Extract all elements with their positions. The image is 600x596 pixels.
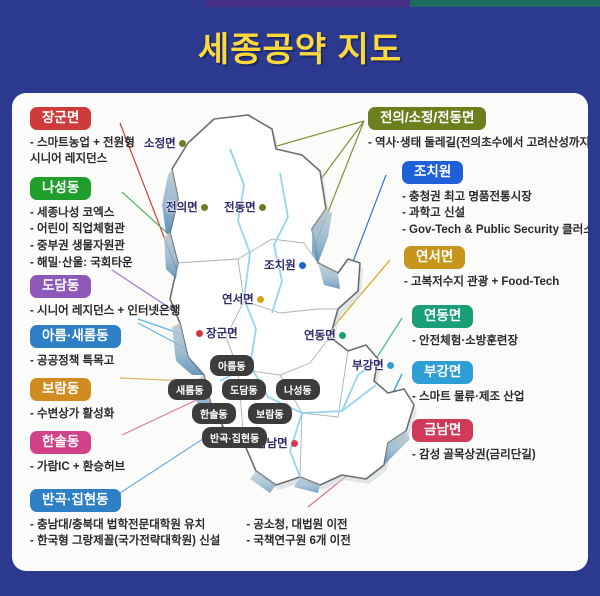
entry-items: - 역사·생태 둘레길(전의초수에서 고려산성까지) — [368, 135, 588, 152]
map-label-bugang-myeon[interactable]: 부강면 — [352, 357, 394, 373]
entry-badge[interactable]: 전의/소정/전동면 — [368, 107, 486, 130]
entry-areum-saerom-dong[interactable]: 아름·새롬동 - 공공정책 특목고 — [30, 325, 121, 369]
entry-item: - 충남대/충북대 법학전문대학원 유치 — [30, 517, 220, 534]
map-dot-icon — [259, 204, 266, 211]
entry-badge[interactable]: 한솔동 — [30, 431, 91, 454]
entry-item: - 고복저수지 관광 + Food-Tech — [404, 274, 559, 291]
map-dot-icon — [291, 440, 298, 447]
map-pill-areum-dong[interactable]: 아름동 — [210, 355, 254, 376]
entry-badge[interactable]: 연동면 — [412, 305, 473, 328]
entry-item: - 공소청, 대법원 이전 — [246, 517, 350, 534]
entry-items: - 감성 골목상권(금리단길) — [412, 447, 536, 464]
map-dot-icon — [179, 140, 186, 147]
entry-items: - 세종나성 코엑스 - 어린이 직업체험관 - 중부권 생물자원관 - 해밀·… — [30, 205, 133, 272]
strip-segment-blue — [0, 0, 205, 7]
entry-items: - 고복저수지 관광 + Food-Tech — [404, 274, 559, 291]
map-label-text: 부강면 — [352, 357, 384, 373]
entry-badge[interactable]: 아름·새롬동 — [30, 325, 121, 348]
map-label-jeondong-myeon[interactable]: 전동면 — [224, 199, 266, 215]
entry-bangok-jiphyeon-dong[interactable]: 반곡·집현동 - 충남대/충북대 법학전문대학원 유치 - 한국형 그랑제꼴(국… — [30, 489, 351, 550]
entry-item: - 충청권 최고 명품전통시장 — [402, 189, 588, 206]
page-title: 세종공약 지도 — [0, 22, 600, 71]
map-label-text: 연서면 — [222, 291, 254, 307]
map-label-text: 전의면 — [166, 199, 198, 215]
entry-item: - Gov-Tech & Public Security 클러스터 — [402, 222, 588, 239]
entry-item: - 세종나성 코엑스 — [30, 205, 133, 222]
map-pill-saerom-dong[interactable]: 새롬동 — [168, 379, 212, 400]
entry-naseong-dong[interactable]: 나성동 - 세종나성 코엑스 - 어린이 직업체험관 - 중부권 생물자원관 -… — [30, 177, 133, 271]
map-svg — [152, 113, 422, 513]
entry-badge[interactable]: 나성동 — [30, 177, 91, 200]
top-color-strip — [0, 0, 600, 7]
entry-items: - 스마트 물류·제조 산업 — [412, 389, 524, 406]
entry-item: - 역사·생태 둘레길(전의초수에서 고려산성까지) — [368, 135, 588, 152]
entry-items: - 스마트농업 + 전원형 시니어 레지던스 — [30, 135, 135, 168]
entry-items: - 충청권 최고 명품전통시장 - 과학고 신설 - Gov-Tech & Pu… — [402, 189, 588, 239]
entry-items: - 충남대/충북대 법학전문대학원 유치 - 한국형 그랑제꼴(국가전략대학원)… — [30, 517, 351, 550]
entry-item: 시니어 레지던스 — [30, 151, 135, 168]
entry-jeonui-sojeong-jeondong-myeon[interactable]: 전의/소정/전동면 - 역사·생태 둘레길(전의초수에서 고려산성까지) — [368, 107, 588, 151]
entry-items: - 수변상가 활성화 — [30, 406, 114, 423]
map-label-yeondong-myeon[interactable]: 연동면 — [304, 327, 346, 343]
entry-item: - 감성 골목상권(금리단길) — [412, 447, 536, 464]
map-pill-naseong-dong[interactable]: 나성동 — [276, 379, 320, 400]
entry-item: - 수변상가 활성화 — [30, 406, 114, 423]
entry-jochiwon[interactable]: 조치원 - 충청권 최고 명품전통시장 - 과학고 신설 - Gov-Tech … — [402, 161, 588, 239]
entry-item: - 가람IC + 환승허브 — [30, 459, 125, 476]
entry-items: - 시니어 레지던스 + 인터넷은행 — [30, 303, 180, 320]
entry-item: - 한국형 그랑제꼴(국가전략대학원) 신설 — [30, 533, 220, 550]
entry-items-column-right: - 공소청, 대법원 이전 - 국책연구원 6개 이전 — [246, 517, 350, 550]
map-label-text: 조치원 — [264, 257, 296, 273]
map-dot-icon — [299, 262, 306, 269]
entry-item: - 해밀·산울: 국회타운 — [30, 255, 133, 272]
entry-items: - 공공정책 특목고 — [30, 353, 121, 370]
entry-badge[interactable]: 반곡·집현동 — [30, 489, 121, 512]
entry-item: - 국책연구원 6개 이전 — [246, 533, 350, 550]
map-label-text: 장군면 — [206, 325, 238, 341]
map-pill-dodam-dong[interactable]: 도담동 — [222, 379, 266, 400]
strip-segment-purple — [205, 0, 410, 7]
map-pill-bangok-jiphyeon-dong[interactable]: 반곡·집현동 — [202, 427, 267, 448]
entry-janggun-myeon[interactable]: 장군면 - 스마트농업 + 전원형 시니어 레지던스 — [30, 107, 135, 168]
map-dot-icon — [196, 330, 203, 337]
map-label-janggun-myeon[interactable]: 장군면 — [196, 325, 238, 341]
entry-item: - 과학고 신설 — [402, 205, 588, 222]
entry-badge[interactable]: 부강면 — [412, 361, 473, 384]
entry-badge[interactable]: 보람동 — [30, 378, 91, 401]
map-label-text: 소정면 — [144, 135, 176, 151]
sejong-map: 소정면 전의면 전동면 조치원 연서면 장군면 — [152, 113, 422, 513]
entry-item: - 어린이 직업체험관 — [30, 221, 133, 238]
map-pill-hansol-dong[interactable]: 한솔동 — [192, 403, 236, 424]
entry-item: - 스마트농업 + 전원형 — [30, 135, 135, 152]
map-dot-icon — [387, 362, 394, 369]
map-dot-icon — [201, 204, 208, 211]
entry-items-column-left: - 충남대/충북대 법학전문대학원 유치 - 한국형 그랑제꼴(국가전략대학원)… — [30, 517, 220, 550]
entry-items: - 안전체험·소방훈련장 — [412, 333, 518, 350]
map-label-yeonseo-myeon[interactable]: 연서면 — [222, 291, 264, 307]
entry-badge[interactable]: 장군면 — [30, 107, 91, 130]
entry-item: - 안전체험·소방훈련장 — [412, 333, 518, 350]
entry-yeondong-myeon[interactable]: 연동면 - 안전체험·소방훈련장 — [412, 305, 518, 349]
entry-badge[interactable]: 금남면 — [412, 419, 473, 442]
map-dot-icon — [257, 296, 264, 303]
entry-dodam-dong[interactable]: 도담동 - 시니어 레지던스 + 인터넷은행 — [30, 275, 180, 319]
map-label-sojeong-myeon[interactable]: 소정면 — [144, 135, 186, 151]
map-label-jochiwon[interactable]: 조치원 — [264, 257, 306, 273]
map-pill-boram-dong[interactable]: 보람동 — [248, 403, 292, 424]
entry-item: - 스마트 물류·제조 산업 — [412, 389, 524, 406]
entry-geumnam-myeon[interactable]: 금남면 - 감성 골목상권(금리단길) — [412, 419, 536, 463]
entry-boram-dong[interactable]: 보람동 - 수변상가 활성화 — [30, 378, 114, 422]
entry-item: - 시니어 레지던스 + 인터넷은행 — [30, 303, 180, 320]
map-label-jeonui-myeon[interactable]: 전의면 — [166, 199, 208, 215]
content-card: 소정면 전의면 전동면 조치원 연서면 장군면 — [12, 93, 588, 571]
entry-items: - 가람IC + 환승허브 — [30, 459, 125, 476]
entry-badge[interactable]: 조치원 — [402, 161, 463, 184]
entry-yeonseo-myeon[interactable]: 연서면 - 고복저수지 관광 + Food-Tech — [404, 246, 559, 290]
map-label-text: 전동면 — [224, 199, 256, 215]
entry-item: - 중부권 생물자원관 — [30, 238, 133, 255]
entry-hansol-dong[interactable]: 한솔동 - 가람IC + 환승허브 — [30, 431, 125, 475]
entry-item: - 공공정책 특목고 — [30, 353, 121, 370]
entry-badge[interactable]: 도담동 — [30, 275, 91, 298]
entry-bugang-myeon[interactable]: 부강면 - 스마트 물류·제조 산업 — [412, 361, 524, 405]
infographic-root: 세종공약 지도 — [0, 0, 600, 596]
map-dot-icon — [339, 332, 346, 339]
map-label-text: 연동면 — [304, 327, 336, 343]
strip-segment-teal — [410, 0, 600, 7]
entry-badge[interactable]: 연서면 — [404, 246, 465, 269]
